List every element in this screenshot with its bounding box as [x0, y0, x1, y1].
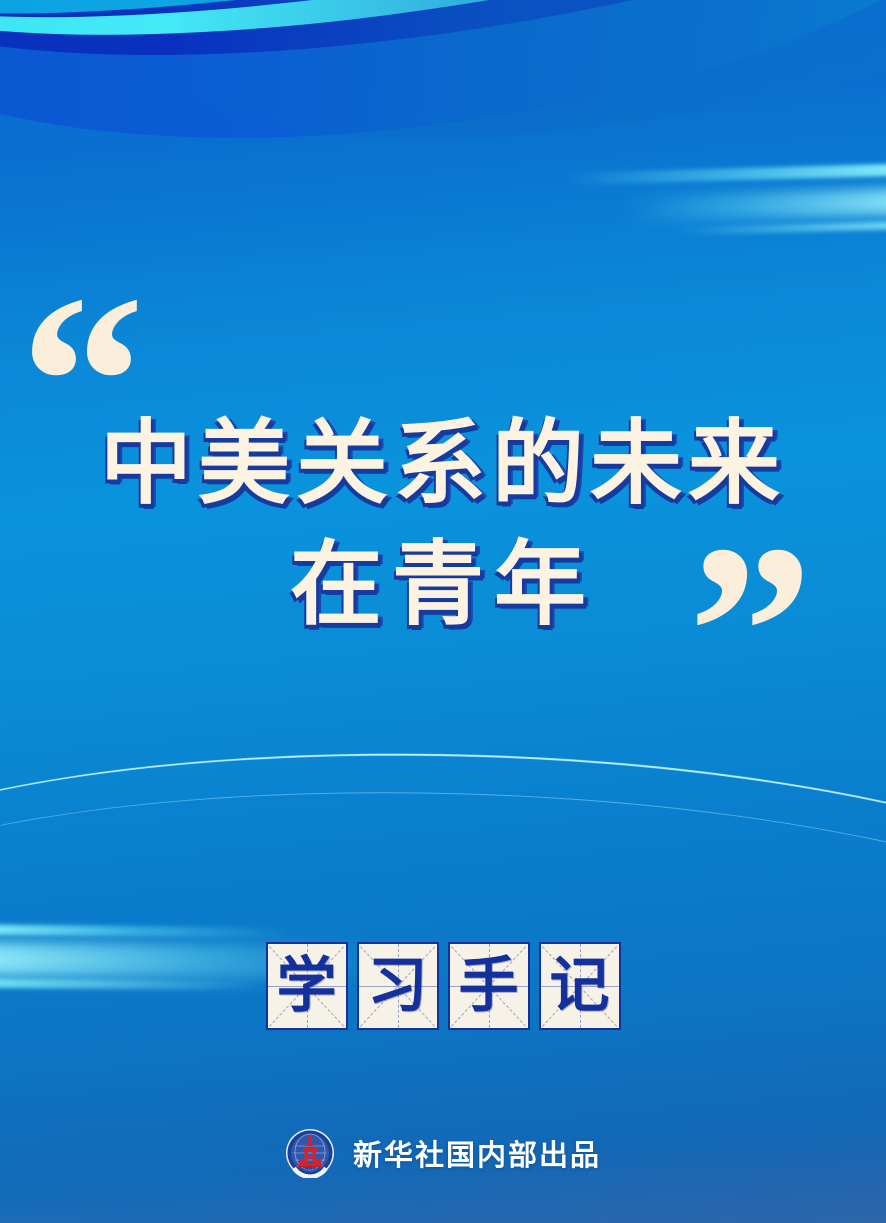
bottom-sweep-2 — [0, 1009, 886, 1223]
light-streak-right-1 — [566, 163, 886, 185]
headline-line-1: 中美关系的未来 — [0, 404, 886, 525]
ribbon-under-sweep — [168, 0, 886, 170]
series-label-grid: 学 习 手 记 — [0, 942, 886, 1030]
grid-cell: 学 — [266, 942, 348, 1030]
ribbon-band-light-blue — [0, 0, 886, 64]
ribbon-band-cyan — [0, 0, 886, 86]
ribbon-band-top-field — [0, 0, 886, 180]
headline: 中美关系的未来 在青年 — [0, 404, 886, 647]
poster-canvas: “ ” 中美关系的未来 在青年 学 习 手 — [0, 0, 886, 1223]
grid-character: 记 — [541, 944, 619, 1028]
grid-character: 手 — [450, 944, 528, 1028]
footer: XINHUA 新华社国内部出品 — [0, 1128, 886, 1178]
ribbon-band-navy-lower — [0, 0, 886, 68]
ribbon-band-navy-upper — [0, 0, 886, 104]
grid-cell: 手 — [448, 942, 530, 1030]
xinhua-logo-icon: XINHUA — [285, 1128, 335, 1178]
grid-character: 学 — [268, 944, 346, 1028]
grid-character: 习 — [359, 944, 437, 1028]
footer-attribution-text: 新华社国内部出品 — [353, 1132, 601, 1174]
svg-text:XINHUA: XINHUA — [299, 1166, 322, 1172]
grid-cell: 习 — [357, 942, 439, 1030]
headline-line-2: 在青年 — [0, 525, 886, 646]
light-streak-left-1 — [0, 924, 290, 937]
light-streak-right-3 — [676, 221, 886, 236]
grid-cell: 记 — [539, 942, 621, 1030]
light-streak-right-2 — [626, 188, 886, 222]
